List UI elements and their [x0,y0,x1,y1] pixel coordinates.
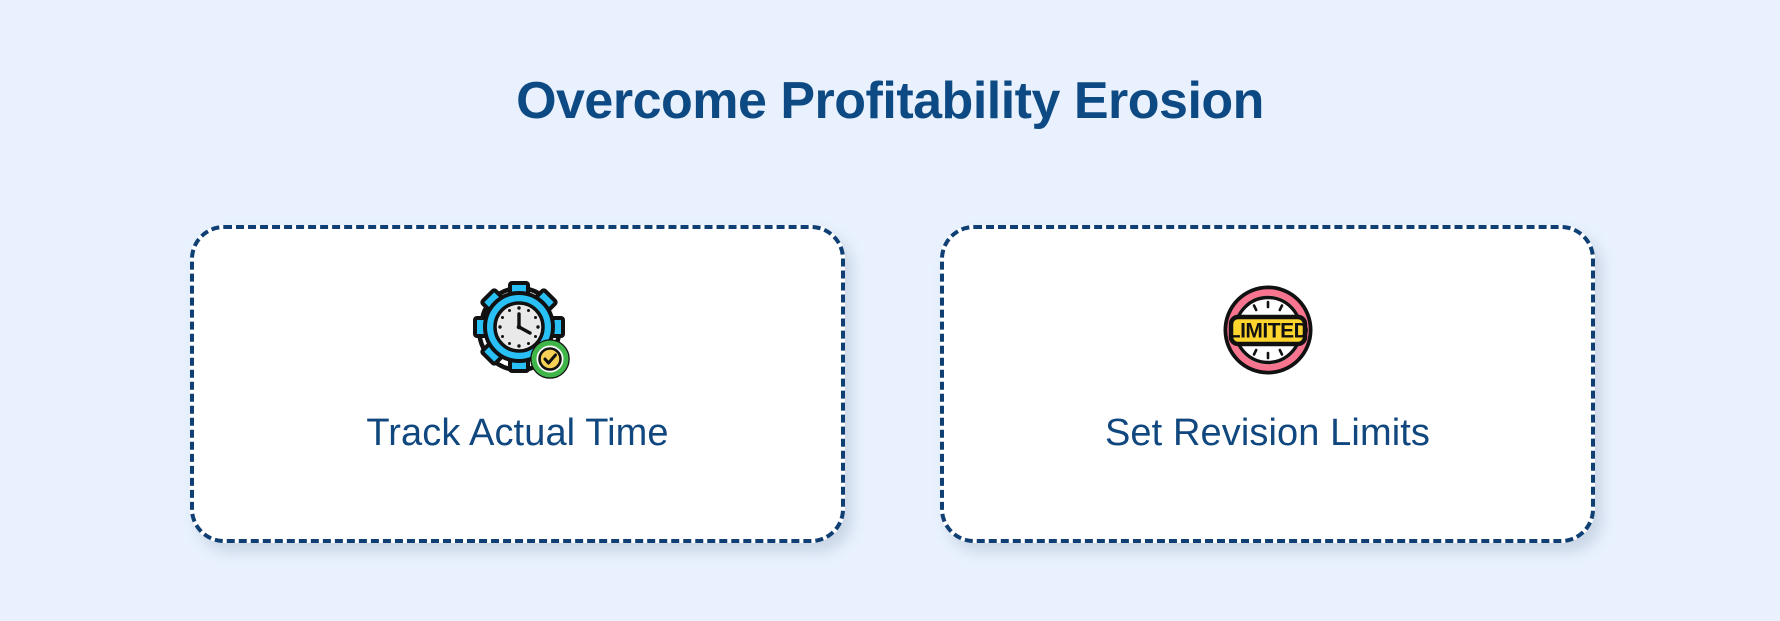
feature-card-label: Set Revision Limits [1105,411,1430,457]
promo-section: Overcome Profitability Erosion [0,0,1780,621]
feature-card-set-revision-limits[interactable]: LIMITED Set Revision Limits [940,225,1595,543]
feature-card-track-actual-time[interactable]: Track Actual Time [190,225,845,543]
feature-card-label: Track Actual Time [366,411,668,457]
feature-cards-row: Track Actual Time [190,225,1595,545]
gear-clock-refresh-check-icon [459,271,577,389]
limited-badge-text: LIMITED [1227,320,1308,343]
limited-stamp-badge-icon: LIMITED [1209,271,1327,389]
page-title: Overcome Profitability Erosion [0,73,1780,130]
